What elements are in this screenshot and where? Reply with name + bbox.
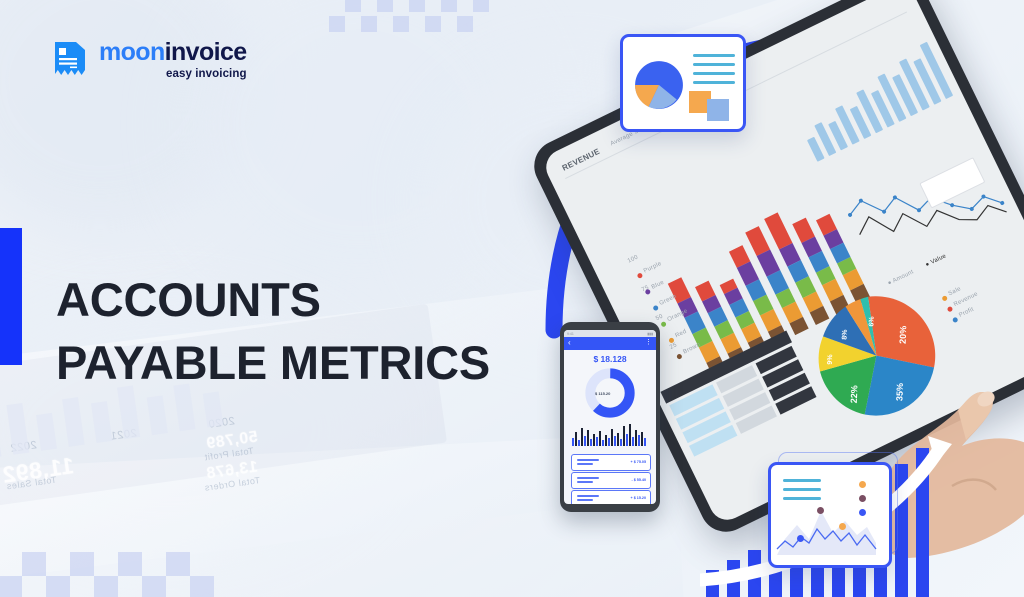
- pie-chart-card: [620, 34, 746, 132]
- page-title: ACCOUNTS PAYABLE METRICS: [56, 269, 576, 394]
- mobile-phone-device: 9:41 ▮▮▮ ‹ ⋮ $ 18.128 $ 115.20: [560, 322, 660, 512]
- checker-pattern-bottom-left: [0, 552, 200, 597]
- card-dot-peak-maroon: [817, 507, 824, 514]
- overflow-menu-icon[interactable]: ⋮: [645, 339, 652, 346]
- brand-name-moon: moon: [99, 38, 165, 66]
- card-text-line: [693, 81, 735, 84]
- card-area-chart: [775, 499, 878, 555]
- card-text-line: [693, 72, 735, 75]
- phone-total-amount: $ 18.128: [564, 354, 656, 364]
- card-text-line: [693, 63, 735, 66]
- card-text-line: [783, 479, 821, 482]
- back-arrow-icon[interactable]: ‹: [568, 339, 571, 347]
- card-dot-peak-orange: [839, 523, 846, 530]
- card-dot-maroon: [859, 495, 866, 502]
- tablet-dashboard-title: REVENUE: [561, 147, 602, 173]
- banner-canvas: 11,892 50,789 13,678 Total Sales Total P…: [0, 0, 1024, 597]
- phone-app-bar[interactable]: ‹ ⋮: [564, 337, 656, 350]
- phone-transaction-amount: + $ 15.20: [631, 496, 646, 500]
- pie-slice-label-9: 9%: [827, 354, 834, 364]
- card-dot-blue: [859, 509, 866, 516]
- card-pie-chart: [633, 59, 685, 111]
- phone-transaction-row[interactable]: + $ 15.20: [571, 490, 651, 504]
- brand-tagline: easy invoicing: [166, 69, 247, 81]
- brand-logo[interactable]: mooninvoice easy invoicing: [52, 40, 247, 81]
- illustration-cluster: REVENUE Average Sales Data: [540, 0, 1024, 597]
- brand-name-invoice: invoice: [165, 38, 247, 66]
- phone-transaction-row[interactable]: + $ 75.05: [571, 454, 651, 471]
- invoice-document-icon: [52, 40, 88, 80]
- card-blue-square: [707, 99, 729, 121]
- area-chart-card: [768, 462, 892, 568]
- tablet-column-chart: [780, 19, 953, 162]
- phone-screen: 9:41 ▮▮▮ ‹ ⋮ $ 18.128 $ 115.20: [564, 330, 656, 504]
- checker-pattern-top: [345, 0, 505, 38]
- phone-status-bar: 9:41 ▮▮▮: [564, 330, 656, 337]
- phone-bar-chart: [572, 424, 648, 446]
- phone-transaction-amount: - $ 55.40: [631, 478, 646, 482]
- brand-wordmark: mooninvoice easy invoicing: [99, 40, 247, 81]
- card-text-line: [783, 488, 821, 491]
- card-dot-orange: [859, 481, 866, 488]
- headline-accent-bar: [0, 228, 22, 365]
- page-title-line-2: PAYABLE METRICS: [56, 332, 576, 395]
- card-text-line: [693, 54, 735, 57]
- card-dot-peak-blue: [797, 535, 804, 542]
- phone-transaction-row[interactable]: - $ 55.40: [571, 472, 651, 489]
- phone-donut-value: $ 115.20: [595, 391, 610, 396]
- page-title-line-1: ACCOUNTS: [56, 269, 576, 332]
- phone-transaction-amount: + $ 75.05: [631, 460, 646, 464]
